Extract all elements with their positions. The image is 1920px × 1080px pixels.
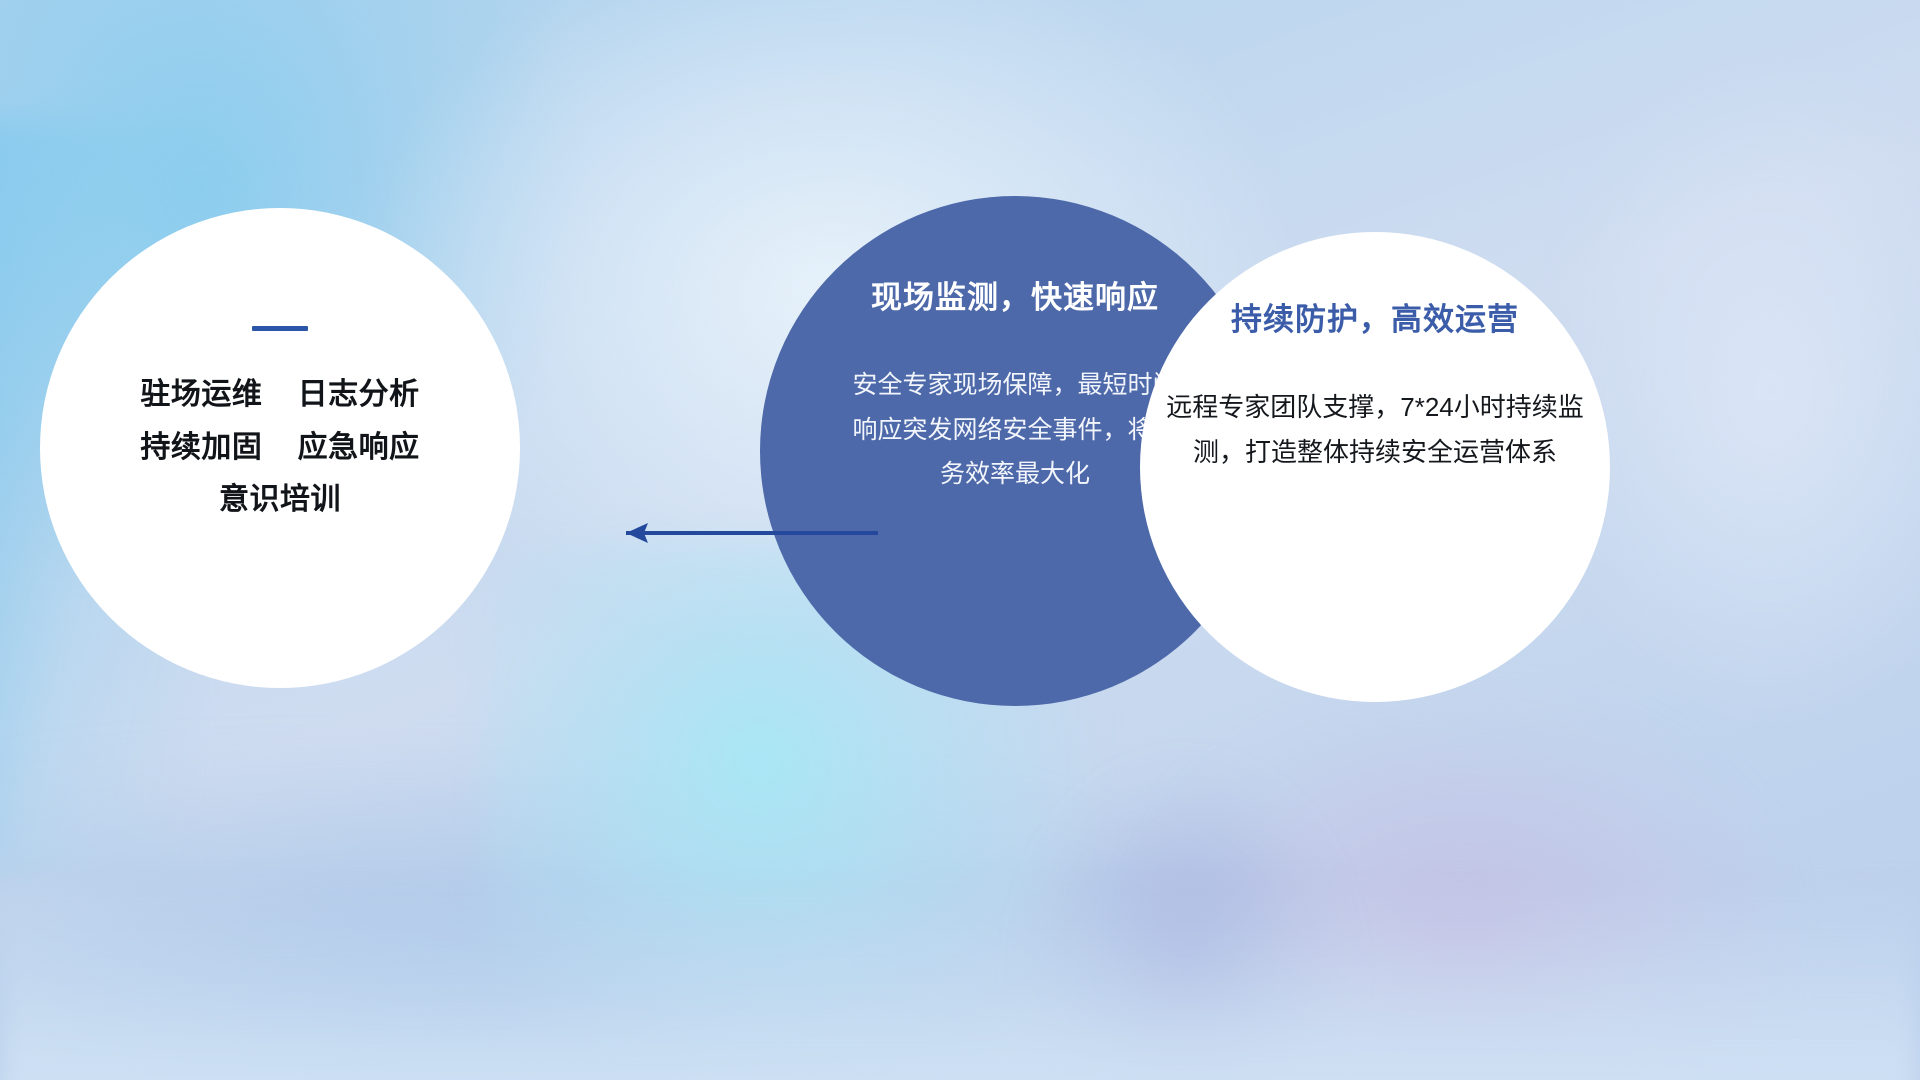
list-item: 意识培训 (40, 474, 520, 527)
list-item: 持续加固 应急响应 (40, 422, 520, 475)
mid-circle-body: 安全专家现场保障，最短时间响应突发网络安全事件，将服务效率最大化 (850, 363, 1180, 497)
left-keywords-circle: 驻场运维 日志分析 持续加固 应急响应 意识培训 (40, 208, 520, 688)
right-circle-body: 远程专家团队支撑，7*24小时持续监测，打造整体持续安全运营体系 (1165, 385, 1585, 474)
background-bottom-wash (0, 880, 1920, 1080)
right-white-circle: 持续防护，高效运营 远程专家团队支撑，7*24小时持续监测，打造整体持续安全运营… (1140, 232, 1610, 702)
arrow-left-icon (600, 516, 880, 550)
mid-circle-title: 现场监测，快速响应 (871, 272, 1159, 317)
left-circle-keyword-list: 驻场运维 日志分析 持续加固 应急响应 意识培训 (40, 369, 520, 527)
horizontal-dash-icon (252, 326, 308, 331)
list-item: 驻场运维 日志分析 (40, 369, 520, 422)
right-circle-title: 持续防护，高效运营 (1231, 294, 1519, 339)
